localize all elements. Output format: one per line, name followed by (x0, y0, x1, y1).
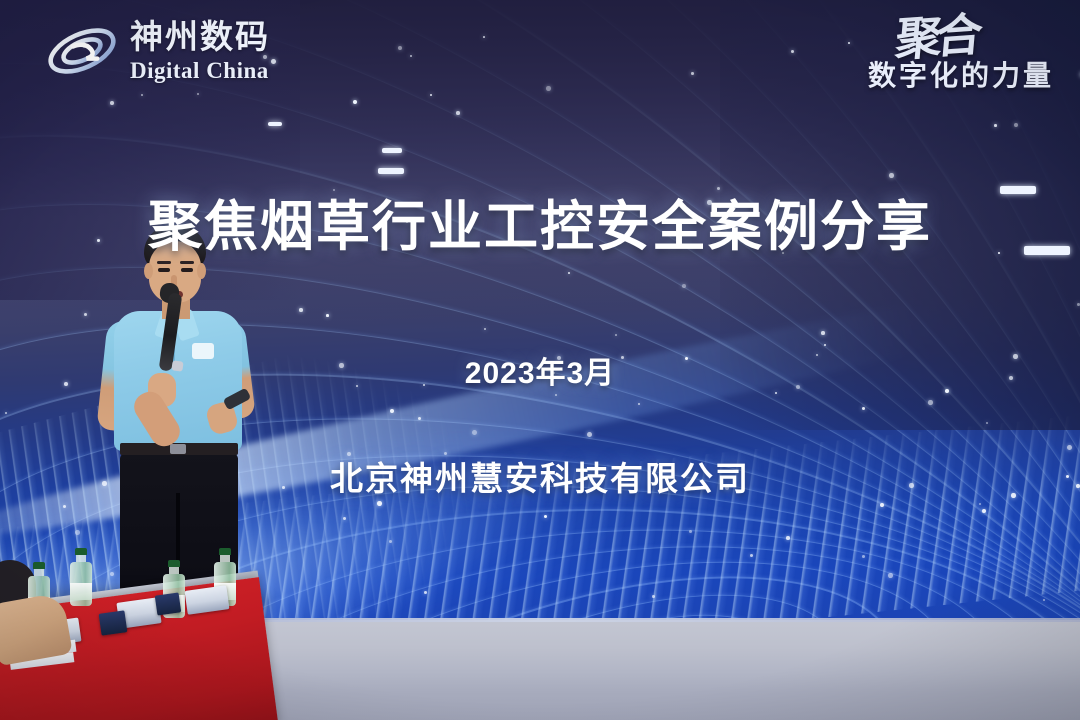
brand-name-en: Digital China (130, 59, 270, 82)
bottle-neck (220, 555, 230, 562)
particle-dot (652, 595, 655, 598)
particle-dot (430, 94, 432, 96)
particle-dot (546, 86, 551, 91)
particle-dot (888, 573, 893, 578)
name-placard (155, 592, 182, 615)
bottle-label (70, 583, 92, 600)
particle-dot (691, 72, 694, 75)
brand-name-cn: 神州数码 (130, 20, 270, 53)
particle-dot (775, 392, 777, 394)
presenter-eye-left (158, 268, 170, 272)
particle-dot (568, 272, 570, 274)
particle-dot (786, 536, 790, 540)
particle-dot (484, 328, 486, 330)
particle-dot (928, 400, 933, 405)
particle-dot (986, 422, 988, 424)
bottle-cap (33, 562, 45, 569)
particle-dot (1043, 599, 1045, 601)
light-streak (268, 122, 282, 126)
slide-title: 聚焦烟草行业工控安全案例分享 (0, 182, 1080, 261)
presenter-eyebrow-left (157, 261, 171, 264)
particle-dot (1077, 303, 1080, 306)
particle-dot (271, 59, 276, 64)
particle-dot (483, 36, 485, 38)
particle-dot (299, 308, 303, 312)
digital-china-logo: 神州数码 Digital China (44, 20, 270, 82)
particle-dot (456, 111, 460, 115)
particle-dot (682, 284, 686, 288)
particle-dot (424, 591, 427, 594)
water-bottle (70, 548, 92, 606)
particle-dot (587, 432, 592, 437)
particle-dot (994, 124, 997, 127)
particle-dot (824, 344, 826, 346)
particle-dot (889, 173, 894, 178)
conference-photo: 神州数码 Digital China 聚合 数字化的力量 聚焦烟草行业工控安全案… (0, 0, 1080, 720)
particle-dot (141, 94, 143, 96)
bottle-neck (34, 569, 44, 576)
presenter-ear-right (197, 263, 206, 279)
slide-company: 北京神州慧安科技有限公司 (0, 452, 1080, 500)
name-placard (99, 610, 128, 635)
particle-dot (110, 101, 114, 105)
particle-dot (544, 515, 547, 518)
particle-dot (638, 403, 640, 405)
particle-dot (377, 501, 382, 506)
event-calligraphy: 聚合 (894, 11, 979, 62)
particle-dot (821, 331, 825, 335)
light-streak (382, 148, 402, 153)
particle-dot (472, 430, 477, 435)
light-streak (378, 168, 404, 174)
particle-dot (326, 314, 329, 317)
event-logo: 聚合 数字化的力量 (868, 14, 1054, 94)
bottle-cap (219, 548, 231, 555)
presenter-ear-left (144, 263, 153, 279)
presenter-eyebrow-right (180, 261, 194, 264)
bottle-neck (169, 567, 179, 574)
bottle-body (70, 562, 92, 606)
digital-china-swirl-icon (44, 20, 120, 82)
bottle-cap (168, 560, 180, 567)
presenter-eye-right (181, 268, 193, 272)
bottle-neck (76, 555, 86, 562)
slide-date: 2023年3月 (0, 348, 1080, 392)
particle-dot (848, 42, 850, 44)
particle-dot (1067, 445, 1072, 450)
particle-dot (75, 530, 80, 535)
bottle-cap (75, 548, 87, 555)
particle-dot (615, 334, 617, 336)
